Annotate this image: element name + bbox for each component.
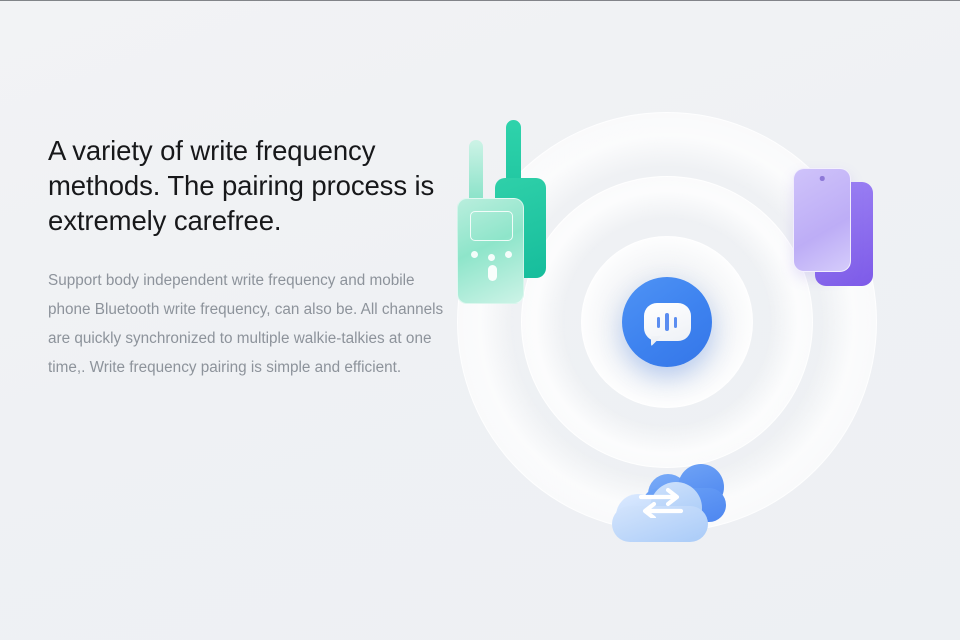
wave-bar-left <box>657 317 660 328</box>
walkie-talkie-ptt-button <box>488 265 497 281</box>
center-chat-badge <box>622 277 712 367</box>
walkie-talkie-icon <box>453 120 563 280</box>
page-title: A variety of write frequency methods. Th… <box>48 133 448 238</box>
text-content-block: A variety of write frequency methods. Th… <box>48 133 448 382</box>
smartphone-camera-dot <box>820 176 825 181</box>
hero-illustration <box>457 112 877 532</box>
top-border-rule <box>0 0 960 1</box>
chat-voice-bubble-icon <box>644 303 691 341</box>
walkie-talkie-screen <box>470 211 513 241</box>
wave-bar-center <box>665 313 668 331</box>
walkie-talkie-front-body <box>457 198 524 304</box>
body-paragraph: Support body independent write frequency… <box>48 266 448 382</box>
walkie-talkie-button-2 <box>488 254 495 261</box>
wave-bar-right <box>674 317 677 328</box>
smartphone-front <box>793 168 851 272</box>
walkie-talkie-button-3 <box>505 251 512 258</box>
smartphone-icon <box>793 168 879 286</box>
walkie-talkie-button-1 <box>471 251 478 258</box>
sync-arrows-icon <box>638 486 684 518</box>
cloud-sync-icon <box>612 464 730 544</box>
